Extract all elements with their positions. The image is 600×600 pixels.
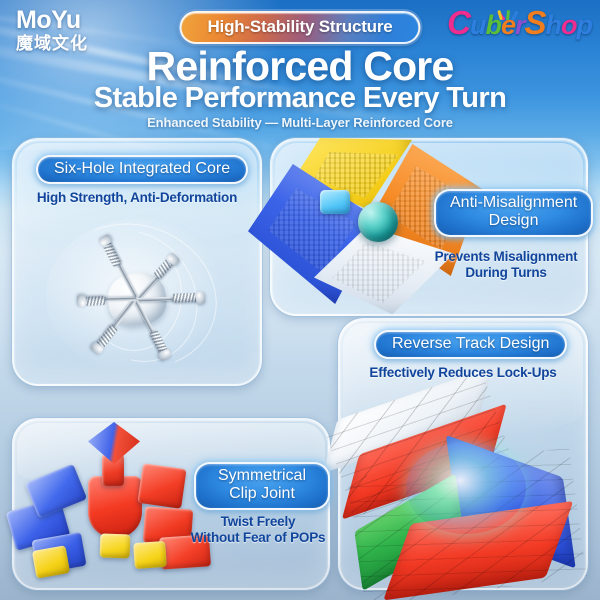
caption-symmetrical-clip: Twist Freely Without Fear of POPs bbox=[180, 514, 336, 545]
cubershop-letter-1: u bbox=[470, 10, 486, 40]
badge-anti-misalignment: Anti-Misalignment Design bbox=[434, 189, 593, 237]
badge-anti-line2: Design bbox=[450, 212, 577, 230]
caption-anti-misalignment: Prevents Misalignment During Turns bbox=[418, 249, 594, 280]
hero-badge: High-Stability Structure bbox=[179, 11, 420, 44]
badge-anti-line1: Anti-Misalignment bbox=[450, 194, 577, 212]
page-subtitle: Stable Performance Every Turn bbox=[0, 84, 600, 113]
cubershop-letter-5: S bbox=[524, 4, 545, 41]
badge-six-hole-core: Six-Hole Integrated Core bbox=[36, 155, 248, 184]
cubershop-letter-6: h bbox=[546, 10, 562, 40]
page-title: Reinforced Core bbox=[0, 46, 600, 87]
caption-clip-line1: Twist Freely bbox=[180, 514, 336, 530]
caption-reverse-track: Effectively Reduces Lock-Ups bbox=[338, 365, 588, 381]
caption-six-hole-core: High Strength, Anti-Deformation bbox=[12, 190, 262, 206]
caption-anti-line1: Prevents Misalignment bbox=[418, 249, 594, 265]
promo-poster: MoYu 魔域文化 CuberShop High-Stability Struc… bbox=[0, 0, 600, 600]
cubershop-letter-7: o bbox=[561, 10, 577, 40]
cubershop-letter-8: p bbox=[577, 10, 593, 40]
page-tagline: Enhanced Stability — Multi-Layer Reinfor… bbox=[0, 115, 600, 130]
badge-symmetrical-clip: Symmetrical Clip Joint bbox=[194, 462, 330, 510]
badge-clip-line1: Symmetrical bbox=[218, 467, 306, 485]
caption-anti-line2: During Turns bbox=[418, 265, 594, 281]
cubershop-letter-0: C bbox=[447, 4, 470, 41]
badge-clip-line2: Clip Joint bbox=[218, 485, 306, 503]
sparkle-rays-icon bbox=[486, 6, 520, 20]
badge-reverse-track: Reverse Track Design bbox=[374, 330, 567, 359]
moyu-logo-latin: MoYu bbox=[16, 8, 88, 33]
cubershop-logo: CuberShop bbox=[447, 6, 592, 39]
caption-clip-line2: Without Fear of POPs bbox=[180, 530, 336, 546]
